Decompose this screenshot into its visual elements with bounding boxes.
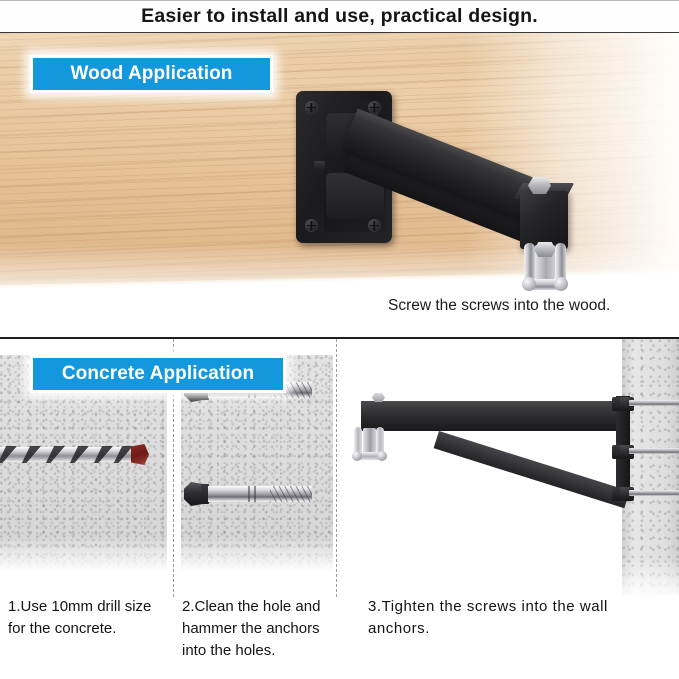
clevis-bolt: [363, 428, 376, 453]
clevis-pin-right: [554, 277, 568, 291]
wall-bolt-head: [620, 397, 629, 409]
instruction-infographic: Easier to install and use, practical des…: [0, 0, 679, 679]
anchor-band: [254, 486, 256, 502]
clevis-pin-left: [352, 451, 362, 461]
wood-bracket-assembly: [296, 91, 576, 311]
masonry-drill-bit-icon: [0, 440, 158, 468]
bracket-horizontal-arm: [361, 401, 629, 431]
wall-anchor-bolt: [629, 490, 679, 496]
chrome-clevis-shackle: [352, 427, 388, 469]
wall-anchor-bolt: [629, 448, 679, 454]
page-title: Easier to install and use, practical des…: [141, 5, 538, 28]
drill-bit-carbide-tip: [131, 444, 149, 465]
caption-wood: Screw the screws into the wood.: [388, 297, 610, 315]
caption-step-2: 2.Clean the hole and hammer the anchors …: [182, 596, 332, 662]
caption-step-1: 1.Use 10mm drill size for the concrete.: [8, 596, 170, 640]
wall-anchor-bolt: [629, 400, 679, 406]
step-captions: 1.Use 10mm drill size for the concrete. …: [0, 596, 679, 679]
panel-divider-2: [336, 339, 337, 597]
clevis-bolt-head: [534, 242, 556, 257]
plate-slot: [314, 161, 325, 170]
chrome-clevis-shackle: [518, 243, 574, 301]
anchor-band: [248, 486, 250, 502]
wall-bolt-head: [620, 445, 629, 457]
caption-step-3: 3.Tighten the screws into the wall ancho…: [368, 596, 668, 640]
sleeve-anchor-icon: [184, 481, 314, 507]
plate-screw-icon: [305, 219, 318, 232]
wood-application-panel: Wood Application Screw the screws into t…: [0, 33, 679, 337]
clevis-pin-left: [522, 277, 536, 291]
anchor-expansion-knurl: [270, 486, 312, 502]
plate-screw-icon: [368, 219, 381, 232]
concrete-fade-2: [181, 537, 333, 571]
concrete-column-fade: [622, 557, 679, 597]
plate-screw-icon: [305, 101, 318, 114]
banner-wood-application: Wood Application: [30, 55, 273, 93]
banner-wood-label: Wood Application: [70, 63, 232, 85]
concrete-fade-1: [0, 537, 167, 571]
clevis-pin-right: [377, 451, 387, 461]
bracket-side-view-panel-3: [344, 339, 679, 597]
wall-bolt-head: [620, 487, 629, 499]
header-bar: Easier to install and use, practical des…: [0, 0, 679, 33]
banner-concrete-label: Concrete Application: [62, 363, 254, 385]
bracket-diagonal-brace: [434, 431, 630, 508]
banner-concrete-application: Concrete Application: [30, 355, 286, 393]
bracket-arm-end-cap: [520, 191, 568, 249]
